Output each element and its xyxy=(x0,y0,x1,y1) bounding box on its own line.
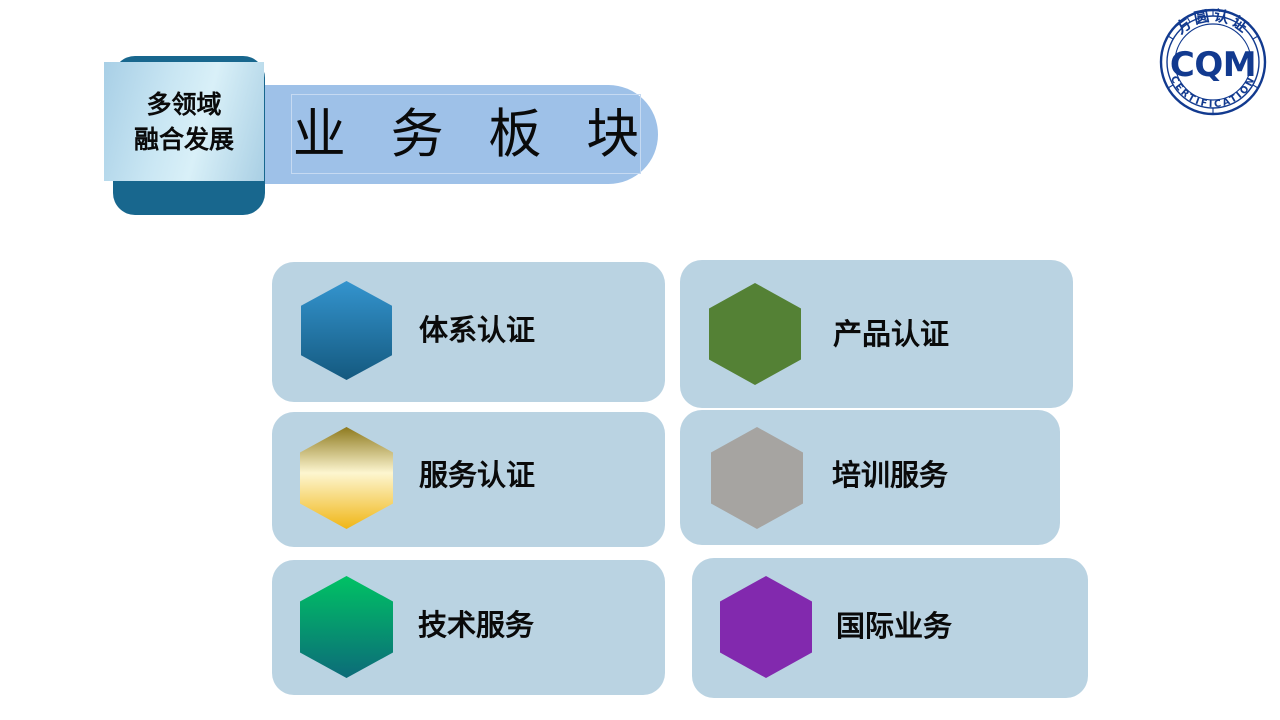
page-title: 业 务 板 块 xyxy=(279,108,654,161)
card-label: 服务认证 xyxy=(419,461,535,490)
card-label: 培训服务 xyxy=(832,461,948,490)
card-label: 体系认证 xyxy=(419,316,535,345)
header-group: 业 务 板 块 多领域 融合发展 xyxy=(0,0,1280,230)
badge-line-2: 融合发展 xyxy=(134,127,234,152)
card-label: 技术服务 xyxy=(418,611,534,640)
slide-canvas: 业 务 板 块 多领域 融合发展 xyxy=(0,0,1280,720)
card-label: 国际业务 xyxy=(836,612,952,641)
title-inner-frame: 业 务 板 块 xyxy=(291,94,641,174)
logo-acronym: CQM xyxy=(1170,45,1256,85)
badge-line-1: 多领域 xyxy=(146,92,221,117)
cqm-logo-icon: 方圆认证 CQM CERTIFICATION xyxy=(1154,2,1272,120)
card-label: 产品认证 xyxy=(833,320,949,349)
badge-tile: 多领域 融合发展 xyxy=(104,62,264,181)
